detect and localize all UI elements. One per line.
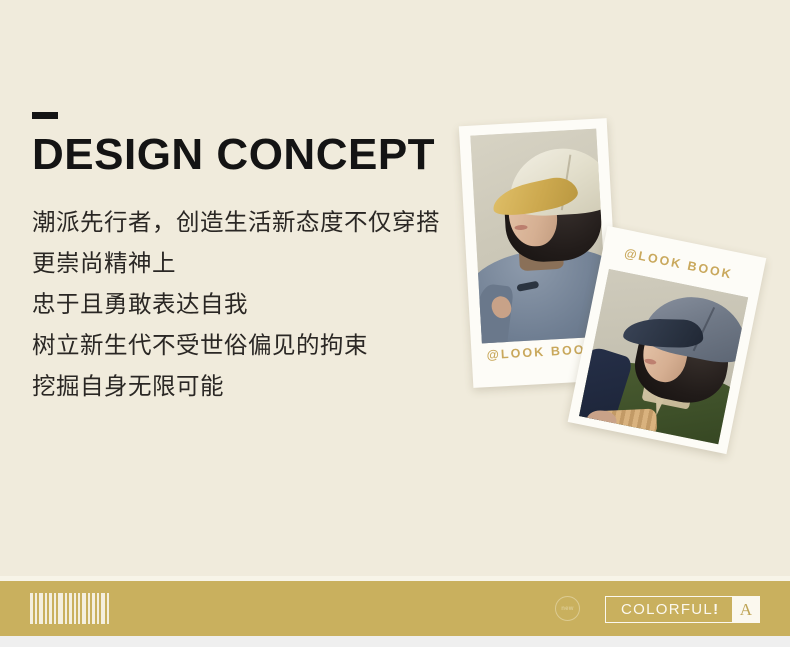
barcode-icon [30, 593, 111, 624]
poster-canvas: DESIGN CONCEPT 潮派先行者，创造生活新态度不仅穿搭 更崇尚精神上 … [0, 0, 790, 647]
colorful-label-wrap: COLORFUL! [606, 597, 732, 622]
colorful-banner[interactable]: COLORFUL! A [605, 596, 760, 623]
page-title: DESIGN CONCEPT [32, 133, 482, 176]
bottom-page-gutter [0, 636, 790, 647]
colorful-label: COLORFUL [621, 601, 713, 618]
letter-chip: A [732, 597, 759, 622]
new-badge[interactable]: new [555, 596, 580, 621]
body-line: 潮派先行者，创造生活新态度不仅穿搭 [32, 202, 482, 243]
text-block: DESIGN CONCEPT 潮派先行者，创造生活新态度不仅穿搭 更崇尚精神上 … [32, 112, 482, 407]
photo-image-2 [579, 269, 748, 444]
photo-image-1 [470, 129, 607, 344]
body-copy: 潮派先行者，创造生活新态度不仅穿搭 更崇尚精神上 忠于且勇敢表达自我 树立新生代… [32, 202, 482, 407]
body-line: 忠于且勇敢表达自我 [32, 284, 482, 325]
body-line: 挖掘自身无限可能 [32, 366, 482, 407]
new-badge-label: new [561, 606, 574, 612]
body-line: 更崇尚精神上 [32, 243, 482, 284]
body-line: 树立新生代不受世俗偏见的拘束 [32, 325, 482, 366]
colorful-exclamation: ! [713, 601, 719, 618]
eyebrow-dash-icon [32, 112, 58, 119]
